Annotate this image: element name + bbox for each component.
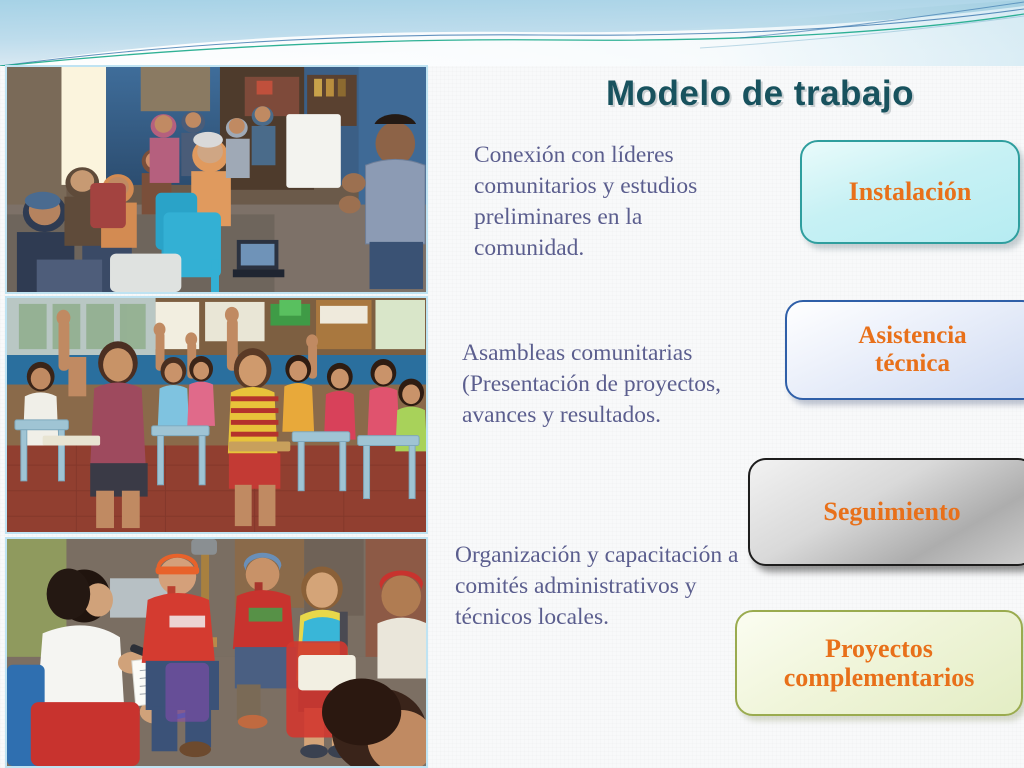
stage-box-instalacion[interactable]: Instalación: [800, 140, 1020, 244]
body-text-conexion-lideres: Conexión con líderes comunitarios y estu…: [474, 140, 744, 264]
body-text-asambleas-comunitarias: Asambleas comunitarias (Presentación de …: [462, 338, 762, 431]
body-text-organizacion-capacitacion: Organización y capacitación a comités ad…: [455, 540, 745, 633]
stage-box-seguimiento[interactable]: Seguimiento: [748, 458, 1024, 566]
slide-canvas: Modelo de trabajo: [0, 0, 1024, 768]
photo-community-meeting-presentation: [5, 65, 428, 294]
photo-committee-training-group: [5, 537, 428, 768]
photo-community-assembly-voting: [5, 296, 428, 534]
stage-box-asistencia-tecnica[interactable]: Asistencia técnica: [785, 300, 1024, 400]
stage-box-proyectos-complementarios[interactable]: Proyectos complementarios: [735, 610, 1023, 716]
header-decorative-band: [0, 0, 1024, 66]
page-title: Modelo de trabajo: [520, 74, 1000, 114]
